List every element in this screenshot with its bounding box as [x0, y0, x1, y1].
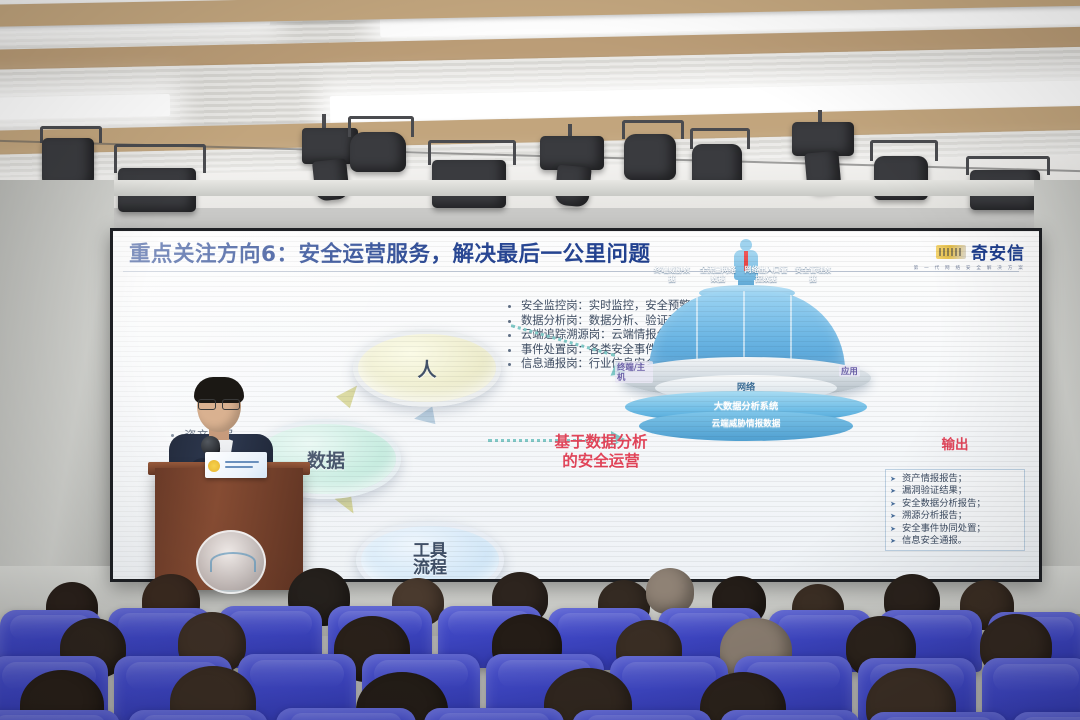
list-item: 信息安全通报。 [890, 535, 1020, 547]
title-divider [123, 271, 1019, 272]
podium-name-card [205, 452, 267, 478]
seat [128, 710, 268, 720]
list-item: 安全数据分析报告； [890, 498, 1020, 510]
output-panel: 输出 资产情报报告； 漏洞验证结果； 安全数据分析报告； 溯源分析报告； 安全事… [885, 433, 1025, 567]
dome-segment-label: 网络出入口管控数据 [743, 265, 789, 283]
seat [0, 710, 120, 720]
output-list: 资产情报报告； 漏洞验证结果； 安全数据分析报告； 溯源分析报告； 安全事件协同… [885, 469, 1025, 551]
cycle-node-label: 数据 [307, 446, 345, 473]
slide-title: 重点关注方向6：安全运营服务，解决最后一公里问题 [129, 237, 650, 268]
cycle-node-label: 人 [417, 355, 436, 382]
seat [572, 710, 712, 720]
center-emphasis-line-2: 的安全运营 [511, 452, 691, 471]
dome-segment-label: 安全管理数据 [793, 265, 833, 283]
output-title: 输出 [885, 433, 1025, 453]
cycle-arrow-icon [413, 406, 436, 427]
dome-left-label: 终端/主机 [615, 361, 653, 383]
brand-logo: 奇安信 第 一 代 网 络 安 全 解 决 方 案 [914, 239, 1025, 271]
qianxin-logo-icon [936, 245, 966, 259]
dome-segment-label: 终端威胁数据 [651, 265, 693, 283]
list-item: 溯源分析报告； [890, 510, 1020, 522]
conference-room-photo: 重点关注方向6：安全运营服务，解决最后一公里问题 奇安信 第 一 代 网 络 安… [0, 0, 1080, 720]
cycle-node-people: 人 [353, 329, 501, 407]
brand-name: 奇安信 [971, 239, 1025, 264]
seat [1012, 712, 1080, 720]
card-logo-icon [208, 460, 220, 472]
list-item: 安全事件协同处置； [890, 523, 1020, 535]
dome-ring-cloud: 云端威胁情报数据 [639, 411, 853, 441]
dome-right-label: 应用 [839, 365, 860, 377]
dome-segment-label: 全流量网络数据 [697, 265, 739, 283]
seat [868, 712, 1008, 720]
audience-seating [0, 560, 1080, 720]
seat [424, 708, 564, 720]
security-dome-graphic: 终端威胁数据 全流量网络数据 网络出入口管控数据 安全管理数据 网络 大数据分析… [621, 239, 871, 439]
back-wall-upper [0, 180, 1080, 196]
brand-tagline: 第 一 代 网 络 安 全 解 决 方 案 [914, 265, 1025, 271]
seat [276, 708, 416, 720]
list-item: 漏洞验证结果； [890, 485, 1020, 497]
ceiling-light-panel [0, 94, 170, 120]
seat [982, 658, 1080, 720]
glasses-icon [197, 399, 241, 408]
seat [720, 710, 860, 720]
list-item: 资产情报报告； [890, 473, 1020, 485]
